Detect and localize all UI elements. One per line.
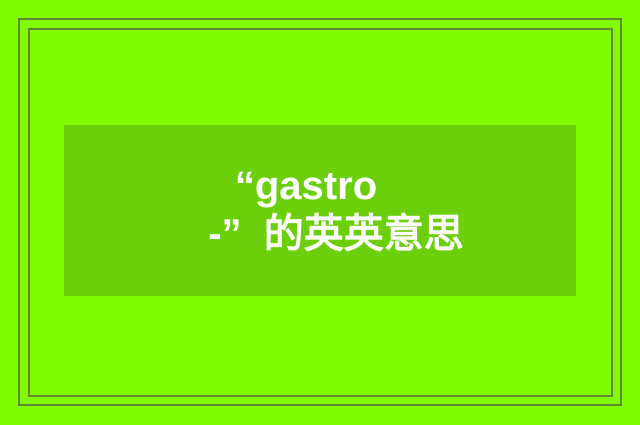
title-line-1: “gastro	[235, 163, 377, 210]
title-plate: “gastro -” 的英英意思	[64, 125, 576, 296]
title-line-2: -” 的英英意思	[208, 211, 464, 258]
slide-canvas: “gastro -” 的英英意思	[0, 0, 640, 425]
